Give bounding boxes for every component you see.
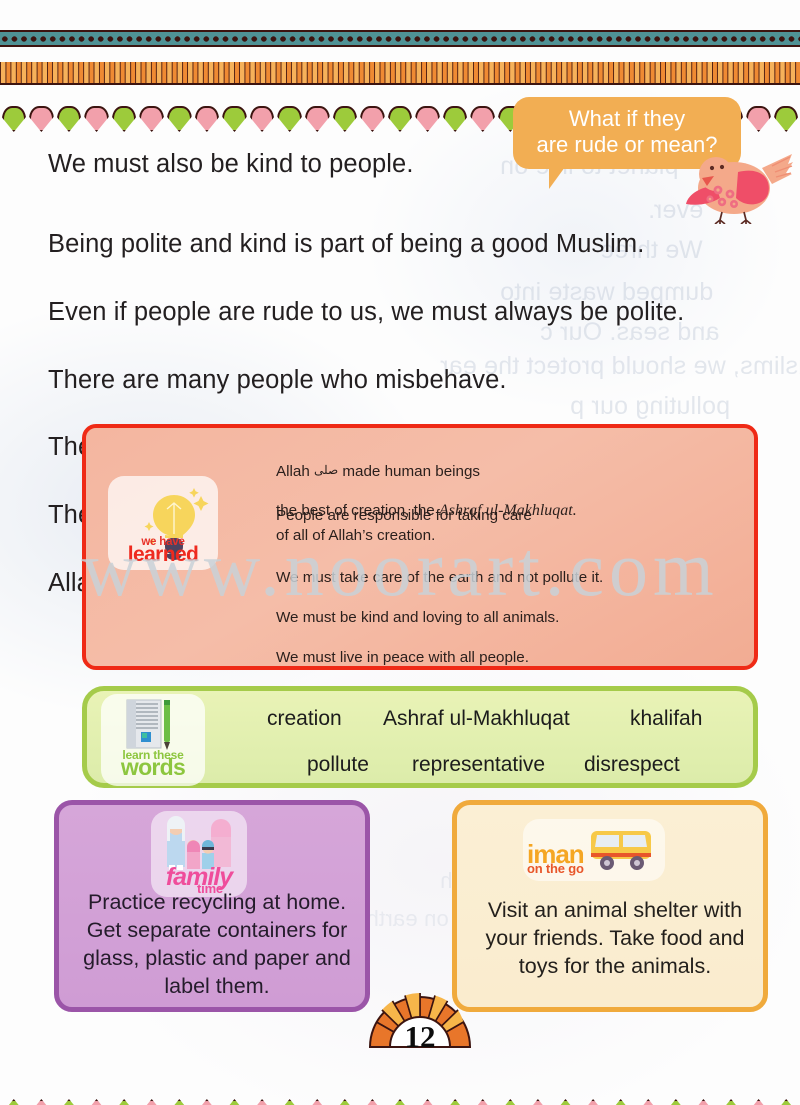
vocab-word: representative xyxy=(412,753,545,777)
vocab-word: khalifah xyxy=(630,707,702,731)
pennant xyxy=(441,1099,469,1105)
learn-these-words-badge-caption: learn these words xyxy=(101,750,205,778)
pennant xyxy=(138,1099,166,1105)
pennant xyxy=(414,1099,442,1105)
pennant xyxy=(524,1099,552,1105)
pennant xyxy=(303,1099,331,1105)
learned-item-2: People are responsible for taking care o… xyxy=(276,506,716,546)
pennant xyxy=(55,1099,83,1105)
learn-these-words-badge: learn these words xyxy=(101,694,205,786)
pennant xyxy=(359,1099,387,1105)
page-number: 12 xyxy=(368,1019,472,1055)
family-time-panel: family time Practice recycling at home. … xyxy=(54,800,370,1012)
pennant xyxy=(552,1099,580,1105)
bottom-border-pennants xyxy=(0,1099,800,1105)
badge-line-2: on the go xyxy=(469,863,611,875)
pennant xyxy=(745,106,773,136)
vocab-word: pollute xyxy=(307,753,369,777)
pennant xyxy=(0,106,28,136)
top-border-stripe-strip xyxy=(0,62,800,85)
pennant xyxy=(690,1099,718,1105)
pennant xyxy=(28,1099,56,1105)
family-time-text: Practice recycling at home. Get separate… xyxy=(67,889,367,1001)
page-number-medallion: 12 xyxy=(368,989,472,1049)
pennant xyxy=(607,1099,635,1105)
pennant xyxy=(331,1099,359,1105)
vocab-word: Ashraf ul-Makhluqat xyxy=(383,707,570,731)
we-have-learned-panel: we have learned Allah صلى made human bei… xyxy=(82,424,758,670)
pennant xyxy=(634,1099,662,1105)
pennant xyxy=(193,1099,221,1105)
learned-item-5: We must live in peace with all people. xyxy=(276,648,746,668)
badge-line-2: words xyxy=(101,757,205,778)
pennant xyxy=(110,1099,138,1105)
pennant xyxy=(386,1099,414,1105)
pennant xyxy=(579,1099,607,1105)
learned-item-3: We must take care of the earth and not p… xyxy=(276,568,746,588)
pennant xyxy=(166,1099,194,1105)
speech-bubble-tail xyxy=(549,167,577,189)
vocab-word: creation xyxy=(267,707,342,731)
iman-on-the-go-badge-caption: iman on the go xyxy=(469,843,611,875)
copy-line-1: Being polite and kind is part of being a… xyxy=(48,230,644,258)
family-time-badge: family time xyxy=(151,811,247,897)
paragraph-one: We must also be kind to people. xyxy=(48,114,518,182)
pennant xyxy=(497,1099,525,1105)
pennant xyxy=(83,1099,111,1105)
pennant xyxy=(221,1099,249,1105)
learned-item-4: We must be kind and loving to all animal… xyxy=(276,608,746,628)
badge-line-2: learned xyxy=(108,545,218,564)
pennant xyxy=(248,1099,276,1105)
pennant xyxy=(276,1099,304,1105)
allah-honorific-glyph: صلى xyxy=(314,463,338,477)
pennant xyxy=(0,1099,28,1105)
speech-bubble-line1: What if they xyxy=(569,106,685,131)
iman-on-the-go-badge: iman on the go xyxy=(523,819,665,881)
top-border-dot-strip xyxy=(0,30,800,47)
learned-item-1-after: made human beings xyxy=(338,463,480,480)
copy-line-2: Even if people are rude to us, we must a… xyxy=(48,298,684,326)
pennant xyxy=(745,1099,773,1105)
pennant xyxy=(772,106,800,136)
we-have-learned-badge: we have learned xyxy=(108,476,218,570)
pennant xyxy=(772,1099,800,1105)
pennant xyxy=(717,1099,745,1105)
learn-these-words-panel: learn these words creation Ashraf ul-Mak… xyxy=(82,686,758,788)
iman-on-the-go-panel: iman on the go Visit an animal shelter w… xyxy=(452,800,768,1012)
paragraph-one-text: We must also be kind to people. xyxy=(48,150,414,178)
storybook-page: Allah planet to live on ever. We three d… xyxy=(0,0,800,1105)
pennant xyxy=(662,1099,690,1105)
learned-item-1-before: Allah xyxy=(276,463,314,480)
we-have-learned-badge-caption: we have learned xyxy=(108,537,218,564)
pennant xyxy=(469,1099,497,1105)
vocab-word: disrespect xyxy=(584,753,680,777)
copy-line-3: There are many people who misbehave. xyxy=(48,366,507,394)
iman-on-the-go-text: Visit an animal shelter with your friend… xyxy=(465,897,765,981)
